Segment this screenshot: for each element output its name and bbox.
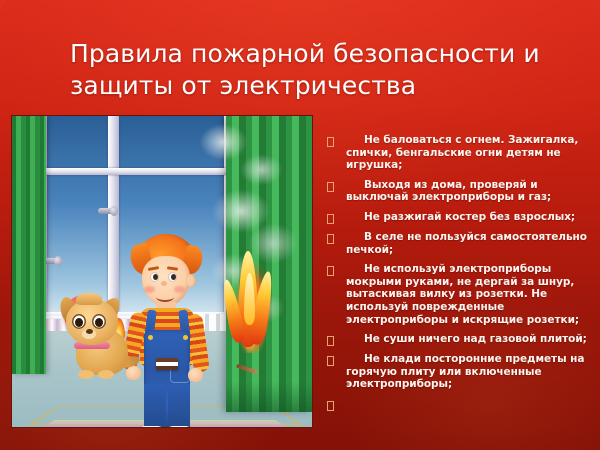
bullet-box-icon [327,234,334,244]
list-item: Не суши ничего над газовой плитой; [327,333,595,346]
safety-rules-list: Не баловаться с огнем. Зажигалка, спички… [327,134,595,418]
list-item: Не используй электроприборы мокрыми рука… [327,263,595,326]
slide-title: Правила пожарной безопасности и защиты о… [70,38,540,102]
list-item-text: Выходя из дома, проверяй и выключай элек… [346,179,595,204]
boy-nose [161,281,167,286]
list-item-text: В селе не пользуйся самостоятельно печко… [346,231,595,256]
dog-figure [58,287,140,379]
list-item-text: Не баловаться с огнем. Зажигалка, спички… [346,134,595,172]
boy-pupil-right [171,274,176,280]
boy-leg-right [168,384,190,427]
list-item: Не разжигай костер без взрослых; [327,211,595,224]
illustration-canvas [12,116,312,427]
bullet-box-icon [327,182,334,192]
boy-cheek-left [144,286,155,293]
boy-pupil-left [153,274,158,280]
boy-cheek-right [174,286,185,293]
list-item-text [346,398,595,408]
list-item-text: Не используй электроприборы мокрыми рука… [346,263,595,326]
boy-mouth [156,292,174,302]
list-item: Не баловаться с огнем. Зажигалка, спички… [327,134,595,172]
bullet-box-icon [327,266,334,276]
overall-button-right [183,335,188,340]
list-item-text: Не суши ничего над газовой плитой; [346,333,595,346]
curtain-fire [224,237,280,353]
boy-hand-right [188,368,203,382]
boy-leg-left [144,384,166,427]
list-item: Выходя из дома, проверяй и выключай элек… [327,179,595,204]
list-item-text: Не разжигай костер без взрослых; [346,211,595,224]
list-item-text: Не клади посторонние предметы на горячую… [346,353,595,391]
boy-ear [186,274,196,287]
bullet-box-icon [327,137,334,147]
matchbox [156,358,178,370]
list-item: Не клади посторонние предметы на горячую… [327,353,595,391]
presentation-slide: Правила пожарной безопасности и защиты о… [0,0,600,450]
dog-paw-right [98,370,114,379]
window-transom [38,168,234,175]
bullet-box-icon [327,356,334,366]
dog-pupil-right [95,318,103,327]
dog-pupil-left [75,318,83,327]
list-item [327,398,595,411]
window-handle-upper [98,208,114,214]
bullet-box-icon [327,401,334,411]
illustration-image [11,115,313,428]
dog-head-tuft [76,293,102,305]
dog-nose [86,329,93,334]
window-frame-middle [108,116,119,316]
list-item: В селе не пользуйся самостоятельно печко… [327,231,595,256]
overall-button-left [148,335,153,340]
dog-paw-left [78,370,94,379]
bullet-box-icon [327,214,334,224]
bullet-box-icon [327,336,334,346]
curtain-left [12,116,46,374]
